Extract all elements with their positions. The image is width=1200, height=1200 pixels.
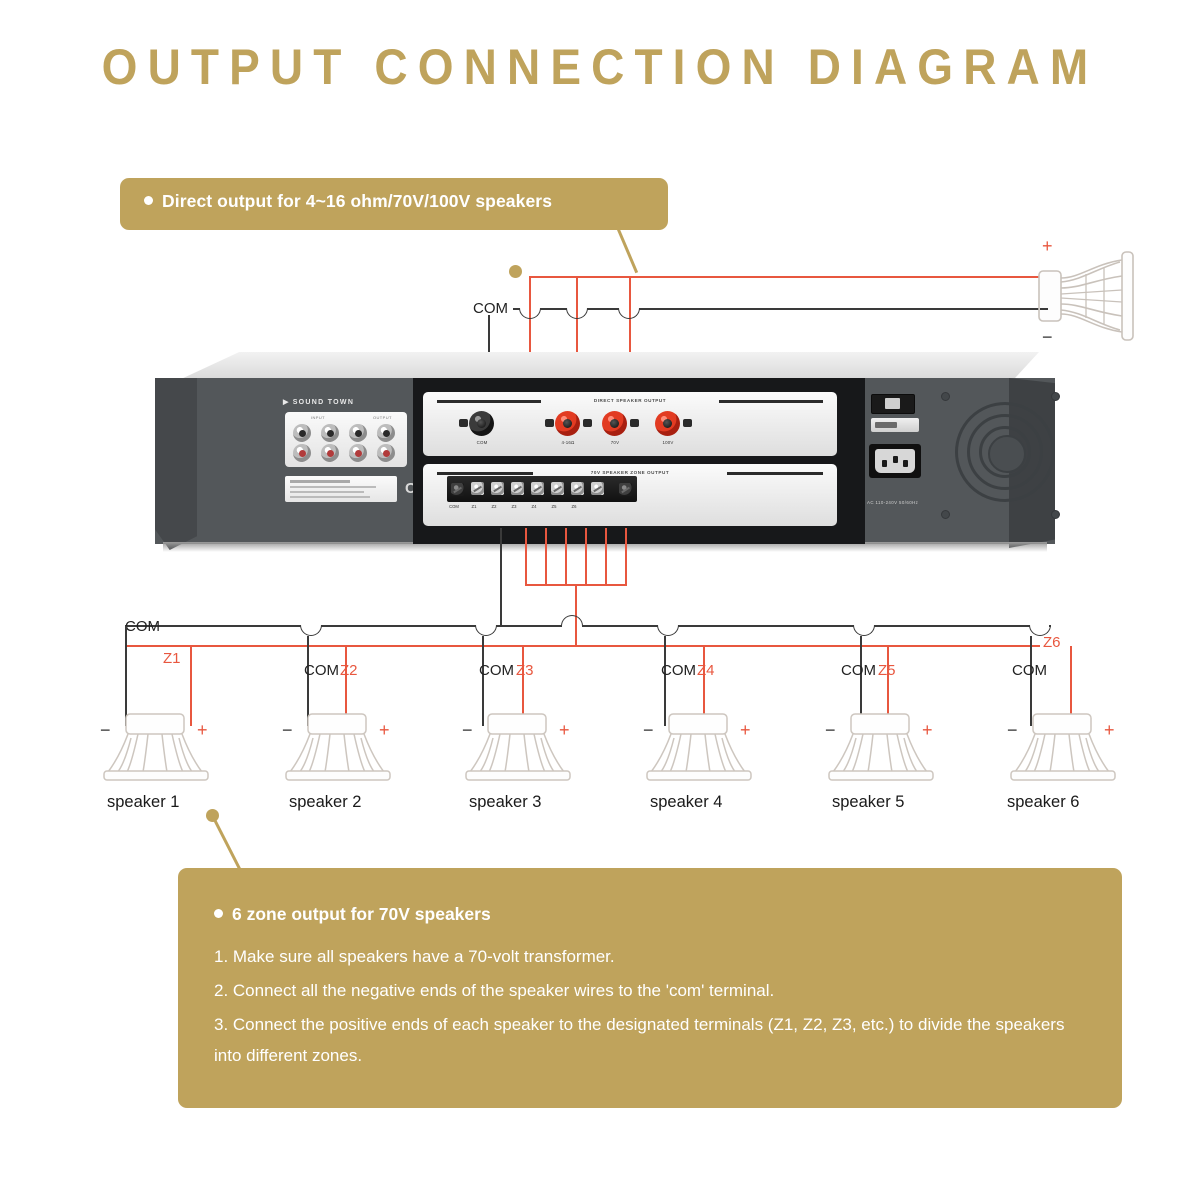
zone-com-bus-seg4 xyxy=(582,625,658,627)
callout-direct-output-label: Direct output for 4~16 ohm/70V/100V spea… xyxy=(162,191,552,211)
terminal-screw-z2[interactable] xyxy=(511,482,524,495)
binding-post-label-4-16ohm: 4-16Ω xyxy=(548,440,588,445)
speaker-1-plus: + xyxy=(197,720,208,741)
rca-jack[interactable] xyxy=(321,424,339,442)
tap-com-label-2: COM xyxy=(304,662,339,679)
amplifier-rear-panel: ▶SOUND TOWN INPUT OUTPUT CE DIRECT SPEAK… xyxy=(155,352,1055,557)
binding-post-4-16ohm[interactable] xyxy=(555,411,580,436)
tap-zone-label-1: Z1 xyxy=(163,650,181,667)
zone-drop-z3 xyxy=(565,528,567,585)
speaker-4-minus: − xyxy=(643,720,654,741)
direct-output-panel: DIRECT SPEAKER OUTPUT COM 4-16Ω 70V 100V xyxy=(423,392,837,456)
terminal-screw-z4[interactable] xyxy=(551,482,564,495)
speaker-4-label: speaker 4 xyxy=(650,793,722,812)
speaker-5-icon xyxy=(825,712,937,802)
binding-post-label-70v: 70V xyxy=(599,440,631,445)
binding-post-label-100v: 100V xyxy=(651,440,685,445)
binding-post-com[interactable] xyxy=(469,411,494,436)
tap-zone-label-4: Z4 xyxy=(697,662,715,679)
terminal-screw-com[interactable] xyxy=(471,482,484,495)
speaker-5-minus: − xyxy=(825,720,836,741)
bullet-icon xyxy=(144,196,153,205)
amp-spec-sticker xyxy=(285,476,397,502)
callout-step: 1. Make sure all speakers have a 70-volt… xyxy=(214,941,1094,972)
speaker-3-label: speaker 3 xyxy=(469,793,541,812)
callout-step: 3. Connect the positive ends of each spe… xyxy=(214,1009,1094,1071)
page-title: OUTPUT CONNECTION DIAGRAM xyxy=(48,38,1152,96)
rca-jack[interactable] xyxy=(377,424,395,442)
wire-hop-icon-z4 xyxy=(657,625,679,636)
speaker-5-label: speaker 5 xyxy=(832,793,904,812)
panel-rule-right xyxy=(727,472,823,475)
zone-com-bus-seg6 xyxy=(874,625,1030,627)
zone-drop-z1 xyxy=(525,528,527,585)
speaker-2-plus: + xyxy=(379,720,390,741)
wire-hop-icon-2 xyxy=(566,308,588,319)
voltage-selector[interactable] xyxy=(871,394,915,414)
tap-zone-label-6: Z6 xyxy=(1043,634,1061,651)
speaker-2-label: speaker 2 xyxy=(289,793,361,812)
speaker-1-minus: − xyxy=(100,720,111,741)
zone-com-bus-end xyxy=(1049,625,1051,627)
tap-com-label-5: COM xyxy=(841,662,876,679)
wire-hop-icon-z2 xyxy=(300,625,322,636)
tap-zone-label-5: Z5 xyxy=(878,662,896,679)
input-panel-label-right: OUTPUT xyxy=(373,415,392,420)
speaker-6-icon xyxy=(1007,712,1119,802)
amp-rack-ear-left xyxy=(155,378,197,550)
rca-jack[interactable] xyxy=(349,424,367,442)
leader-dot-top xyxy=(509,265,522,278)
wire-hop-icon-z3 xyxy=(475,625,497,636)
zone-terminal-strip xyxy=(447,476,637,502)
input-panel-label-left: INPUT xyxy=(311,415,325,420)
tap-com-wire-1 xyxy=(125,626,127,726)
terminal-screw-end xyxy=(451,483,464,496)
speaker-2-minus: − xyxy=(282,720,293,741)
callout-step: 2. Connect all the negative ends of the … xyxy=(214,975,1094,1006)
post-tab xyxy=(545,419,554,427)
rca-jack[interactable] xyxy=(349,444,367,462)
terminal-screw-z1[interactable] xyxy=(491,482,504,495)
speaker-3-icon xyxy=(462,712,574,802)
speaker-4-icon xyxy=(643,712,755,802)
amp-input-panel: INPUT OUTPUT xyxy=(285,412,407,467)
amp-top-surface xyxy=(179,352,1039,380)
binding-post-70v[interactable] xyxy=(602,411,627,436)
speaker-3-plus: + xyxy=(559,720,570,741)
ac-rating-label: AC 110-240V 50/60Hz xyxy=(867,500,918,505)
tap-com-label-3: COM xyxy=(479,662,514,679)
rca-jack[interactable] xyxy=(377,444,395,462)
terminal-screw-end xyxy=(619,483,632,496)
tap-zone-label-3: Z3 xyxy=(516,662,534,679)
wire-hop-icon-3 xyxy=(618,308,640,319)
zone-drop-z4 xyxy=(585,528,587,585)
fuse-holder[interactable] xyxy=(871,418,919,432)
post-tab xyxy=(683,419,692,427)
wire-hop-icon-1 xyxy=(519,308,541,319)
post-tab xyxy=(583,419,592,427)
callout-zone-output-heading: 6 zone output for 70V speakers xyxy=(232,904,491,924)
terminal-screw-z3[interactable] xyxy=(531,482,544,495)
rca-jack[interactable] xyxy=(321,444,339,462)
leader-line-top xyxy=(617,229,638,273)
callout-direct-output: Direct output for 4~16 ohm/70V/100V spea… xyxy=(120,178,668,230)
tap-zone-label-2: Z2 xyxy=(340,662,358,679)
terminal-screw-z5[interactable] xyxy=(571,482,584,495)
speaker-3-minus: − xyxy=(462,720,473,741)
zone-com-bus-seg2 xyxy=(321,625,476,627)
direct-com-bus-seg2 xyxy=(540,308,567,310)
direct-red-bus xyxy=(529,276,1045,278)
speaker-direct-minus: − xyxy=(1042,327,1053,348)
callout-zone-output: 6 zone output for 70V speakers 1. Make s… xyxy=(178,868,1122,1108)
callout-zone-output-heading-row: 6 zone output for 70V speakers xyxy=(214,904,491,925)
direct-com-to-speaker xyxy=(1040,308,1048,310)
direct-com-bus-seg4 xyxy=(639,308,1045,310)
amp-brand-row: ▶SOUND TOWN xyxy=(283,398,354,406)
speaker-2-icon xyxy=(282,712,394,802)
direct-com-label: COM xyxy=(473,300,508,317)
speaker-direct xyxy=(1036,238,1156,354)
direct-com-bus-seg3 xyxy=(587,308,619,310)
fan-grille-icon xyxy=(955,402,1055,502)
callout-zone-output-steps: 1. Make sure all speakers have a 70-volt… xyxy=(214,941,1094,1074)
zone-com-bus-seg3 xyxy=(496,625,562,627)
zone-drop-z2 xyxy=(545,528,547,585)
zone-bus-com-label: COM xyxy=(125,618,160,635)
rca-jack[interactable] xyxy=(293,444,311,462)
speaker-1-icon xyxy=(100,712,212,802)
speaker-6-plus: + xyxy=(1104,720,1115,741)
zone-com-drop xyxy=(500,528,502,626)
brand-mark-icon: ▶ xyxy=(283,398,290,406)
terminal-screw-z6[interactable] xyxy=(591,482,604,495)
binding-post-100v[interactable] xyxy=(655,411,680,436)
amp-brand-label: SOUND TOWN xyxy=(293,399,354,406)
zone-drop-z6 xyxy=(625,528,627,585)
chassis-screw xyxy=(941,392,950,401)
speaker-4-plus: + xyxy=(740,720,751,741)
post-tab xyxy=(630,419,639,427)
tap-com-label-4: COM xyxy=(661,662,696,679)
speaker-direct-plus: + xyxy=(1042,236,1053,257)
zone-red-bus xyxy=(125,645,1040,647)
chassis-screw xyxy=(941,510,950,519)
callout-direct-output-text-row: Direct output for 4~16 ohm/70V/100V spea… xyxy=(144,191,552,212)
iec-power-inlet[interactable] xyxy=(869,444,921,478)
speaker-5-plus: + xyxy=(922,720,933,741)
speaker-6-label: speaker 6 xyxy=(1007,793,1079,812)
bullet-icon xyxy=(214,909,223,918)
wire-hop-icon-trunk xyxy=(561,615,583,626)
chassis-screw xyxy=(1051,392,1060,401)
iec-inner xyxy=(875,449,915,473)
zone-terminal-label-z6: Z6 xyxy=(561,504,587,509)
tap-com-label-6: COM xyxy=(1012,662,1047,679)
chassis-screw xyxy=(1051,510,1060,519)
zone-com-bus-seg5 xyxy=(678,625,854,627)
diagram-canvas: OUTPUT CONNECTION DIAGRAM Direct output … xyxy=(0,0,1200,1200)
panel-rule-right xyxy=(719,400,823,403)
post-tab xyxy=(459,419,468,427)
leader-line-bottom xyxy=(213,819,241,871)
speaker-1-label: speaker 1 xyxy=(107,793,179,812)
speaker-6-minus: − xyxy=(1007,720,1018,741)
wire-hop-icon-z5 xyxy=(853,625,875,636)
rca-jack[interactable] xyxy=(293,424,311,442)
binding-post-label-com: COM xyxy=(463,440,501,445)
zone-drop-z5 xyxy=(605,528,607,585)
